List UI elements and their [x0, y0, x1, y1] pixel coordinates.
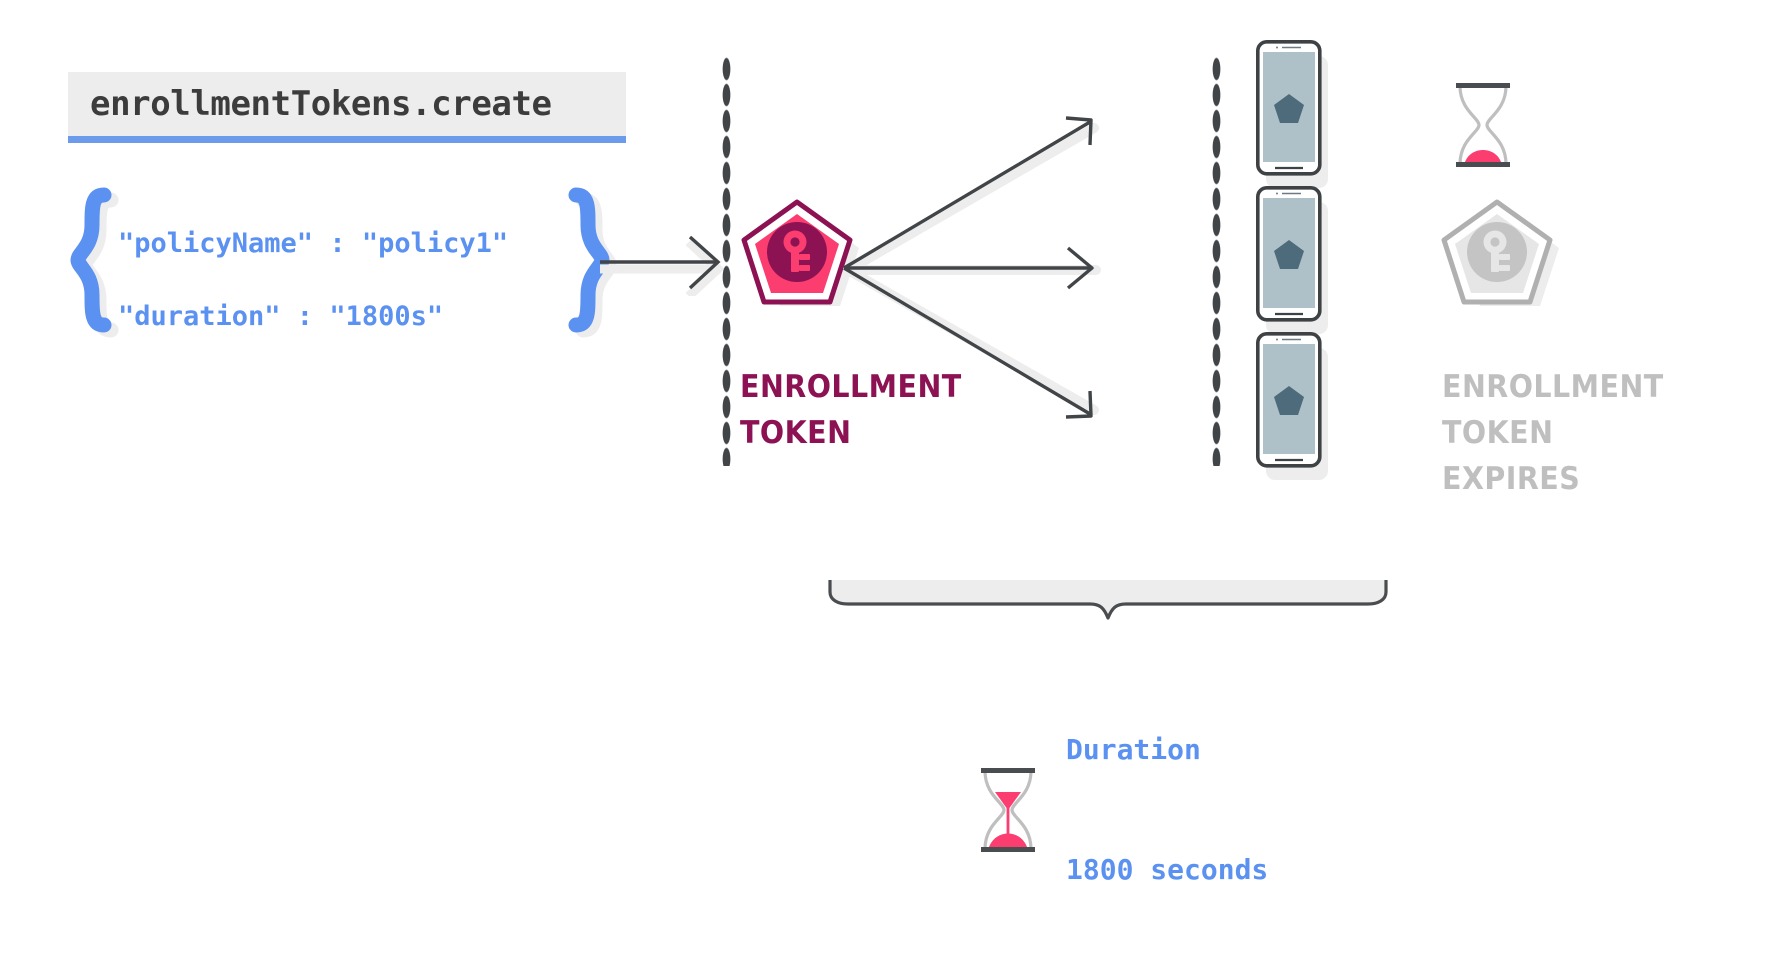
expires-label-line-3: EXPIRES	[1442, 456, 1718, 502]
payload-open-brace-icon	[70, 185, 118, 335]
duration-value: 1800 seconds	[1066, 850, 1268, 890]
request-arrow-icon	[600, 236, 726, 296]
enrollment-token-expires-label: ENROLLMENT TOKEN EXPIRES	[1442, 364, 1718, 502]
diagram-canvas: enrollmentTokens.create "policyName" : "…	[0, 0, 1789, 795]
payload-line-2: "duration" : "1800s"	[118, 280, 566, 353]
api-title-underline	[68, 136, 626, 143]
device-phone-2[interactable]	[1256, 186, 1328, 334]
enrollment-token-expired-pentagon-key-icon	[1440, 198, 1565, 316]
token-distribution-arrows	[840, 90, 1108, 430]
timeline-end-dotted-line	[1212, 56, 1221, 466]
timeline-start-dotted-line	[722, 56, 731, 466]
hourglass-empty-icon	[1453, 80, 1513, 170]
duration-span-brace-icon	[828, 578, 1388, 626]
device-phone-1[interactable]	[1256, 40, 1328, 188]
duration-text-block: Duration 1800 seconds	[1066, 650, 1268, 970]
expires-label-line-2: TOKEN	[1442, 410, 1718, 456]
duration-label: Duration	[1066, 730, 1268, 770]
request-payload: "policyName" : "policy1""duration" : "18…	[70, 185, 630, 335]
hourglass-flowing-icon	[978, 765, 1038, 855]
duration-legend: Duration 1800 seconds	[978, 650, 1268, 970]
expires-label-line-1: ENROLLMENT	[1442, 364, 1718, 410]
api-method-title-box: enrollmentTokens.create	[68, 72, 626, 136]
payload-line-1: "policyName" : "policy1"	[118, 207, 566, 280]
payload-json-text: "policyName" : "policy1""duration" : "18…	[118, 207, 566, 353]
api-method-title: enrollmentTokens.create	[68, 84, 552, 124]
device-phone-3[interactable]	[1256, 332, 1328, 480]
